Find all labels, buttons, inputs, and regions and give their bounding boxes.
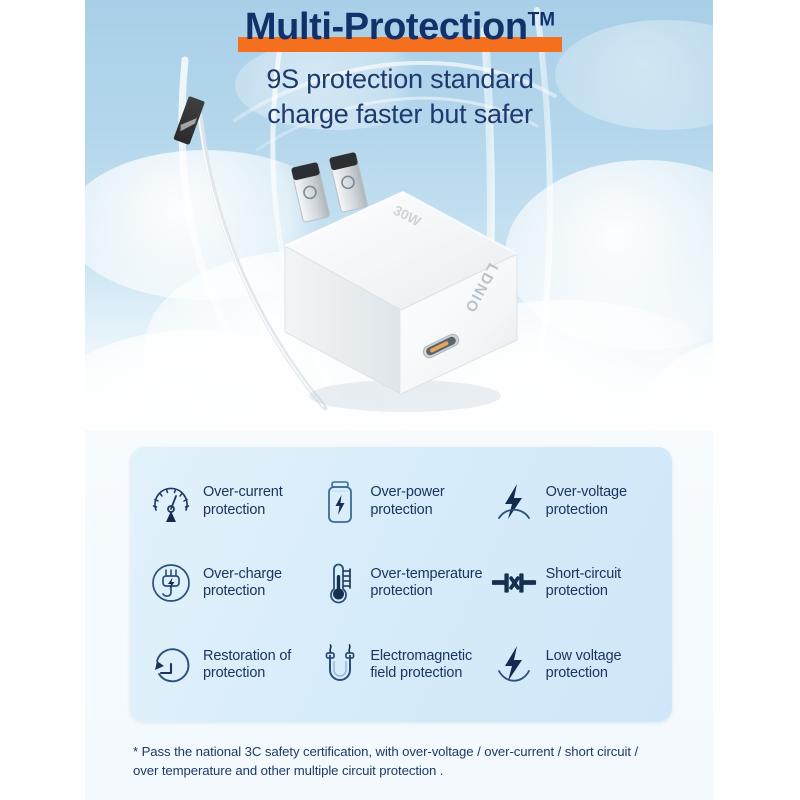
- feature-grid: Over-currentprotection Over-powerprotect…: [130, 447, 672, 722]
- bolt-arc-up-icon: [491, 479, 537, 525]
- restore-arrow-icon: [148, 642, 194, 688]
- feature-label: Over-powerprotection: [370, 484, 444, 519]
- feature-item-over-voltage: Over-voltageprotection: [487, 461, 658, 543]
- battery-bolt-icon: [319, 479, 361, 525]
- feature-item-over-temperature: Over-temperatureprotection: [315, 543, 486, 625]
- gauge-icon: [148, 479, 194, 525]
- feature-label: Over-temperatureprotection: [370, 566, 482, 601]
- feature-label: Over-chargeprotection: [203, 566, 282, 601]
- subtitle-line-1: 9S protection standard: [0, 62, 800, 97]
- subtitle: 9S protection standard charge faster but…: [0, 62, 800, 132]
- short-circuit-icon: [491, 560, 537, 606]
- feature-item-short-circuit: Short-circuitprotection: [487, 543, 658, 625]
- feature-label: Short-circuitprotection: [546, 566, 621, 601]
- subtitle-line-2: charge faster but safer: [0, 97, 800, 132]
- feature-item-over-power: Over-powerprotection: [315, 461, 486, 543]
- feature-item-low-voltage: Low voltageprotection: [487, 624, 658, 706]
- charger-product-image: 30W LDNIO: [255, 150, 555, 420]
- feature-item-over-current: Over-currentprotection: [144, 461, 315, 543]
- footnote-line-1: * Pass the national 3C safety certificat…: [133, 742, 693, 761]
- trademark-symbol: TM: [528, 9, 555, 30]
- feature-label: Restoration ofprotection: [203, 648, 291, 683]
- title-text: Multi-Protection: [245, 6, 528, 48]
- certification-footnote: * Pass the national 3C safety certificat…: [133, 742, 693, 780]
- product-infographic: Multi-ProtectionTM 9S protection standar…: [0, 0, 800, 800]
- feature-label: Over-currentprotection: [203, 484, 283, 519]
- plug-circle-icon: [148, 560, 194, 606]
- thermometer-icon: [319, 560, 361, 606]
- feature-item-restoration: Restoration ofprotection: [144, 624, 315, 706]
- bolt-arc-down-icon: [491, 642, 537, 688]
- feature-item-over-charge: Over-chargeprotection: [144, 543, 315, 625]
- feature-label: Low voltageprotection: [546, 648, 622, 683]
- feature-label: Electromagneticfield protection: [370, 648, 472, 683]
- magnet-icon: [319, 642, 361, 688]
- feature-label: Over-voltageprotection: [546, 484, 627, 519]
- footnote-line-2: over temperature and other multiple circ…: [133, 761, 693, 780]
- feature-item-electromagnetic: Electromagneticfield protection: [315, 624, 486, 706]
- protection-features-panel: Over-currentprotection Over-powerprotect…: [130, 447, 672, 722]
- page-title: Multi-ProtectionTM: [0, 8, 800, 46]
